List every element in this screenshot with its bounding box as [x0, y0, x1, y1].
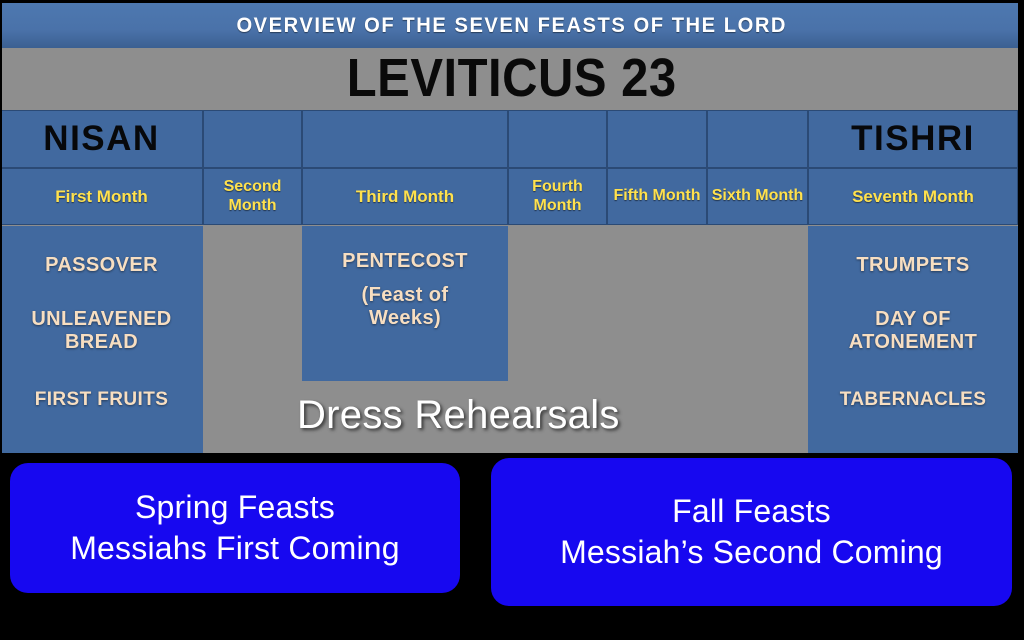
feast-pentecost-sub-line2: Weeks): [302, 307, 508, 329]
callout-fall-feasts[interactable]: Fall Feasts Messiah’s Second Coming: [491, 458, 1012, 606]
header-cell-tishri: TISHRI: [808, 110, 1018, 168]
month-cell-fifth: Fifth Month: [607, 168, 707, 225]
callout-fall-line2: Messiah’s Second Coming: [560, 532, 943, 573]
callout-spring-line2: Messiahs First Coming: [70, 528, 400, 569]
feast-block-spring: PASSOVER UNLEAVENED BREAD FIRST FRUITS: [0, 226, 203, 453]
feast-unleavened-bread-line2: BREAD: [0, 331, 203, 353]
header-cell-empty-3: [302, 110, 508, 168]
header-cell-nisan: NISAN: [0, 110, 203, 168]
month-cell-first: First Month: [0, 168, 203, 225]
callout-fall-line1: Fall Feasts: [672, 491, 831, 532]
month-label-fifth: Fifth Month: [610, 187, 703, 205]
dress-rehearsals-label: Dress Rehearsals: [297, 393, 620, 438]
feast-day-of-atonement-line1: DAY OF: [808, 308, 1018, 330]
month-label-first: First Month: [52, 187, 151, 207]
feast-first-fruits: FIRST FRUITS: [0, 389, 203, 410]
feast-block-pentecost: PENTECOST (Feast of Weeks): [302, 226, 508, 381]
feast-day-of-atonement-line2: ATONEMENT: [808, 331, 1018, 353]
scripture-reference-title: LEVITICUS 23: [347, 52, 677, 106]
header-cell-empty-4: [508, 110, 607, 168]
overview-banner-title: OVERVIEW OF THE SEVEN FEASTS OF THE LORD: [237, 14, 788, 38]
month-cell-third: Third Month: [302, 168, 508, 225]
feast-calendar-table: NISAN TISHRI First Month Second Month Th…: [0, 110, 1024, 453]
month-cell-seventh: Seventh Month: [808, 168, 1018, 225]
month-label-sixth: Sixth Month: [709, 187, 807, 205]
feast-unleavened-bread-line1: UNLEAVENED: [0, 308, 203, 330]
scripture-reference-strip: LEVITICUS 23: [0, 48, 1024, 110]
month-label-second: Second Month: [204, 178, 301, 215]
callout-spring-feasts[interactable]: Spring Feasts Messiahs First Coming: [10, 463, 460, 593]
overview-banner: OVERVIEW OF THE SEVEN FEASTS OF THE LORD: [0, 3, 1024, 48]
feast-pentecost-sub-line1: (Feast of: [302, 284, 508, 306]
edge-trim-left: [0, 0, 2, 640]
feast-pentecost: PENTECOST: [302, 250, 508, 272]
feast-tabernacles: TABERNACLES: [808, 389, 1018, 410]
edge-trim-right: [1018, 0, 1024, 640]
header-cell-empty-5: [607, 110, 707, 168]
slide-canvas: OVERVIEW OF THE SEVEN FEASTS OF THE LORD…: [0, 0, 1024, 640]
header-cell-empty-6: [707, 110, 808, 168]
hebrew-month-tishri-label: TISHRI: [851, 119, 975, 159]
month-cell-sixth: Sixth Month: [707, 168, 808, 225]
month-label-seventh: Seventh Month: [849, 187, 977, 207]
feast-block-fall: TRUMPETS DAY OF ATONEMENT TABERNACLES: [808, 226, 1018, 453]
month-cell-second: Second Month: [203, 168, 302, 225]
month-cell-fourth: Fourth Month: [508, 168, 607, 225]
month-label-third: Third Month: [353, 187, 457, 207]
month-label-fourth: Fourth Month: [509, 178, 606, 215]
feast-trumpets: TRUMPETS: [808, 254, 1018, 276]
edge-trim-top: [0, 0, 1024, 3]
feast-passover: PASSOVER: [0, 254, 203, 276]
header-cell-empty-2: [203, 110, 302, 168]
callout-spring-line1: Spring Feasts: [135, 487, 335, 528]
hebrew-month-nisan-label: NISAN: [43, 119, 159, 159]
